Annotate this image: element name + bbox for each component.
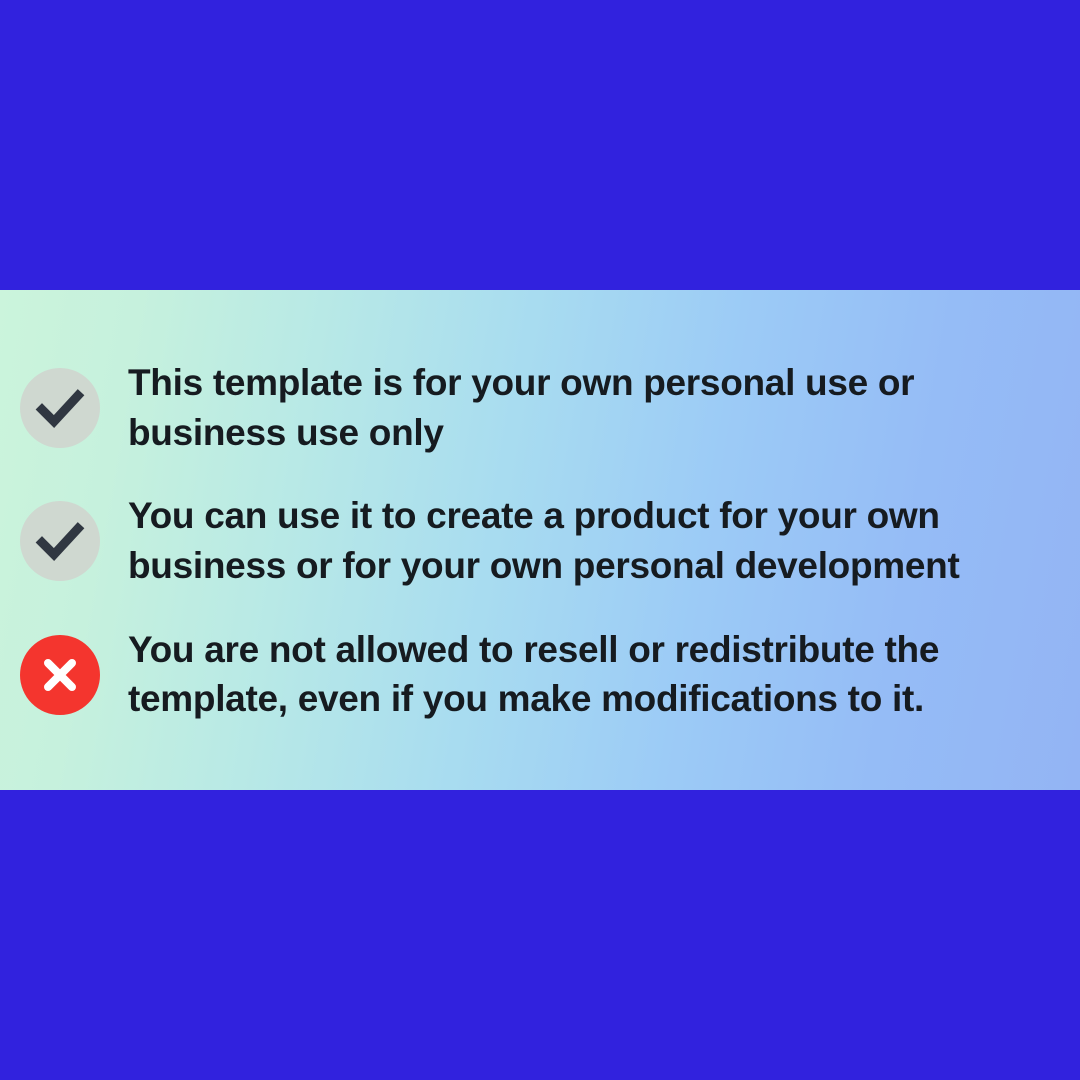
- list-item: This template is for your own personal u…: [20, 356, 1072, 457]
- check-circle-icon: [20, 368, 100, 448]
- check-circle-icon: [20, 501, 100, 581]
- list-item-text: This template is for your own personal u…: [128, 356, 1008, 457]
- list-item-text: You are not allowed to resell or redistr…: [128, 623, 1072, 724]
- license-terms-panel: This template is for your own personal u…: [0, 290, 1080, 790]
- list-item: You are not allowed to resell or redistr…: [20, 623, 1072, 724]
- list-item-text: You can use it to create a product for y…: [128, 489, 1072, 590]
- cross-circle-icon: [20, 635, 100, 715]
- license-terms-list: This template is for your own personal u…: [0, 356, 1080, 723]
- slide-canvas: This template is for your own personal u…: [0, 0, 1080, 1080]
- list-item: You can use it to create a product for y…: [20, 489, 1072, 590]
